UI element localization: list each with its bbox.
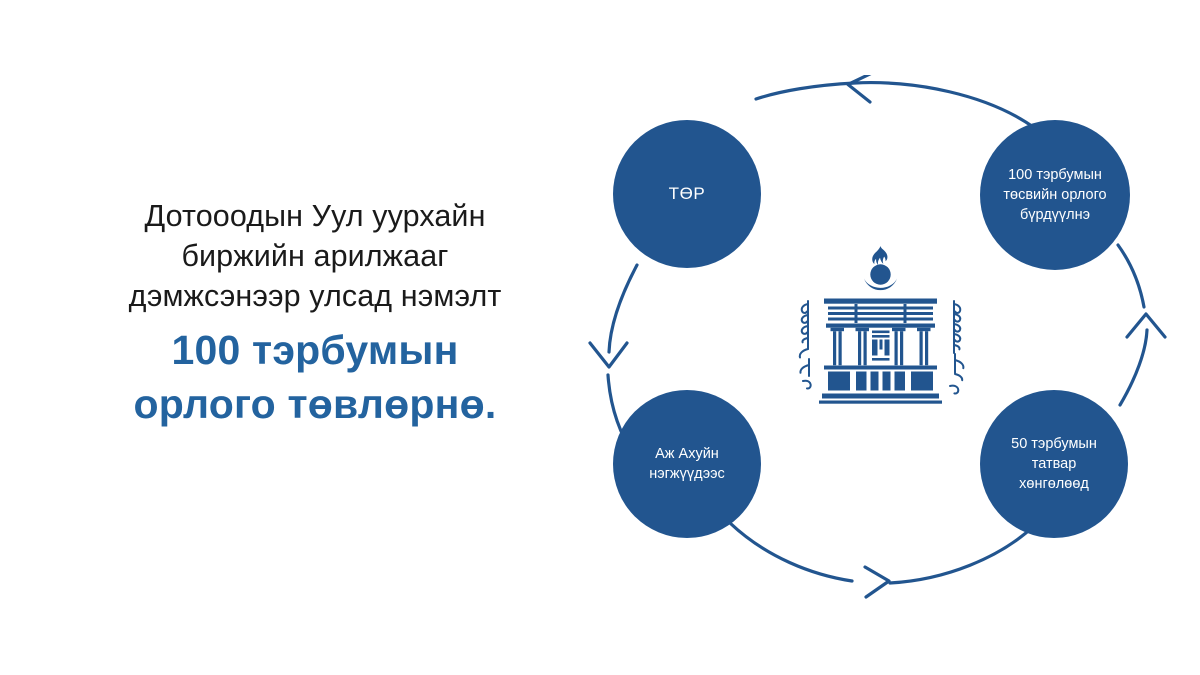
arrow-budget-to-tor [756,75,1040,132]
cycle-node-tor-label: ТӨР [657,184,718,204]
headline-block: Дотооодын Уул уурхайн биржийн арилжааг д… [60,196,570,431]
headline-emphasis-line-1: 100 тэрбумын [60,316,570,377]
arrow-business-to-tax [730,523,1035,597]
mongolian-government-emblem-icon [778,238,983,413]
cycle-node-business-entities[interactable]: Аж Ахуйн нэгжүүдээс [613,390,761,538]
mongolian-script-left [800,301,811,388]
headline-emphasis-line-2: орлого төвлөрнө. [60,377,570,431]
arrow-tax-to-budget [1118,245,1165,405]
cycle-node-business-entities-label: Аж Ахуйн нэгжүүдээс [637,444,737,484]
slide-canvas: Дотооодын Уул уурхайн биржийн арилжааг д… [0,0,1200,675]
cycle-node-tax-relief[interactable]: 50 тэрбумын татвар хөнгөлөөд [980,390,1128,538]
cycle-node-budget-revenue-label: 100 тэрбумын төсвийн орлого бүрдүүлнэ [991,165,1118,225]
headline-line-1: Дотооодын Уул уурхайн [60,196,570,236]
emblem-svg [778,238,983,413]
mongolian-script-right [950,301,963,394]
headline-line-2: биржийн арилжааг [60,236,570,276]
cycle-node-budget-revenue[interactable]: 100 тэрбумын төсвийн орлого бүрдүүлнэ [980,120,1130,270]
headline-line-3: дэмжсэнээр улсад нэмэлт [60,276,570,316]
cycle-diagram: ТӨР 100 тэрбумын төсвийн орлого бүрдүүлн… [580,75,1180,615]
cycle-node-tor[interactable]: ТӨР [613,120,761,268]
cycle-node-tax-relief-label: 50 тэрбумын татвар хөнгөлөөд [999,434,1109,494]
